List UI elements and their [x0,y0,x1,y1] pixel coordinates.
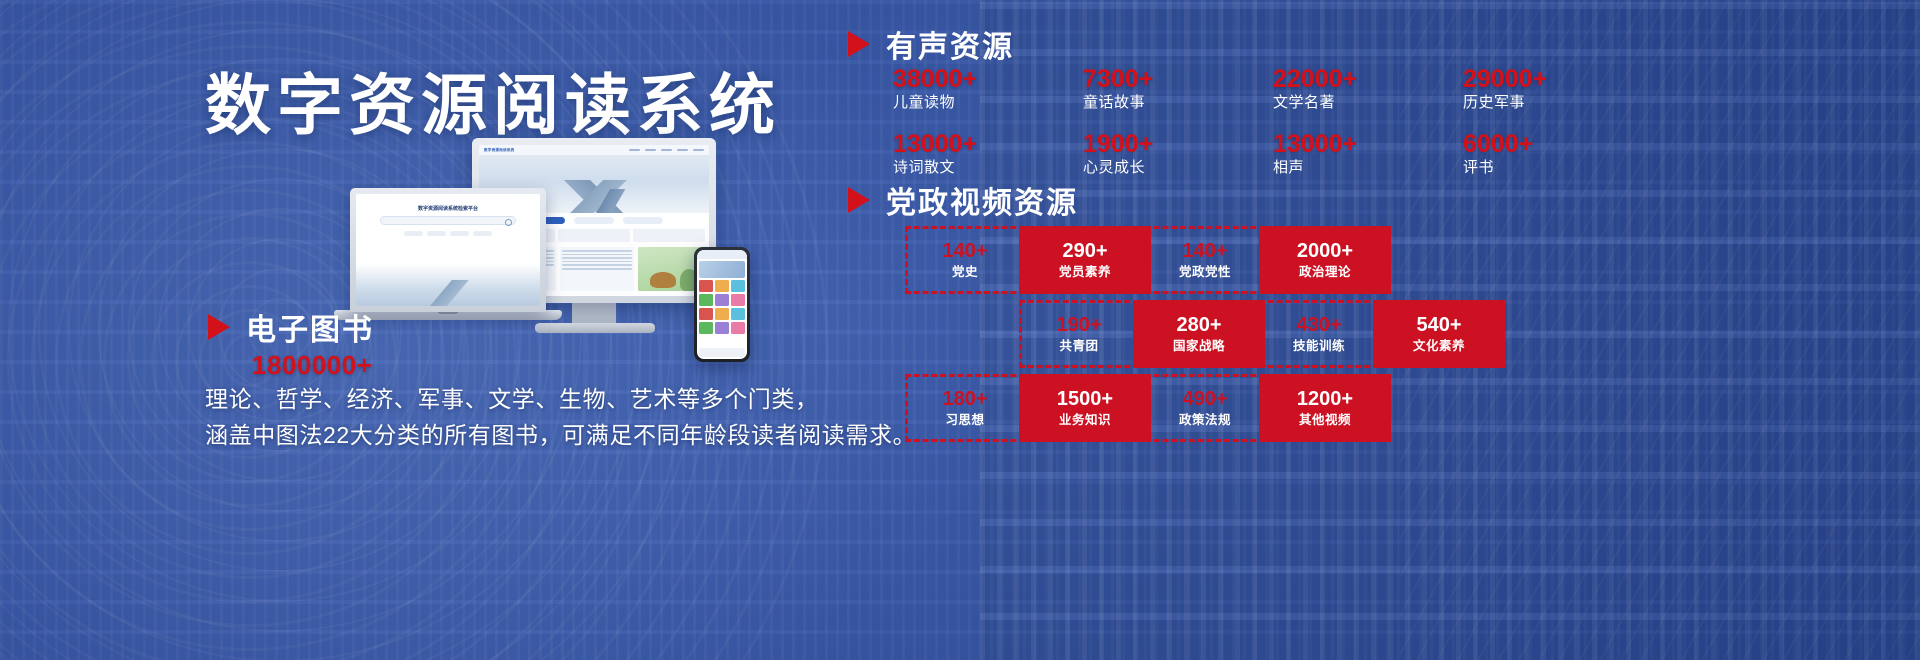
video-stats-grid: 140+党史290+党员素养140+党政党性2000+政治理论190+共青团28… [905,226,1515,442]
audio-stat-count: 6000+ [1463,131,1653,157]
ebook-heading: 电子图书 [246,305,374,349]
video-stat-count: 280+ [1176,314,1221,337]
laptop: 数字资源阅读系统检索平台 [350,188,546,312]
video-stat-count: 190+ [1056,314,1101,337]
audio-stats-grid: 38000+儿童读物7300+童话故事22000+文学名著29000+历史军事1… [893,66,1653,179]
website-nav [629,149,704,152]
video-stat-count: 140+ [942,240,987,263]
audio-stat-item: 38000+儿童读物 [893,66,1083,114]
monitor-stand-base [535,323,655,333]
website-logo: 数字资源阅读系统 [484,148,514,153]
audio-stat-item: 1900+心灵成长 [1083,131,1273,179]
video-stat-label: 党员素养 [1059,263,1111,281]
audio-stat-label: 儿童读物 [893,92,1083,114]
video-stat-cell: 180+习思想 [905,374,1025,442]
audio-stat-item: 7300+童话故事 [1083,66,1273,114]
video-stat-cell: 1200+其他视频 [1259,374,1391,442]
laptop-screen: 数字资源阅读系统检索平台 [356,194,540,306]
phone-app-grid [697,280,747,334]
video-stat-label: 习思想 [945,411,984,429]
ebook-description-line1: 理论、哲学、经济、军事、文学、生物、艺术等多个门类， [205,381,916,417]
audio-stat-count: 13000+ [893,131,1083,157]
laptop-site-title: 数字资源阅读系统检索平台 [356,194,540,216]
audio-heading: 有声资源 [886,22,1014,66]
video-stat-count: 490+ [1182,388,1227,411]
audio-stat-label: 历史军事 [1463,92,1653,114]
hero-mountain-front [543,189,681,213]
video-stat-count: 1500+ [1057,388,1113,411]
play-triangle-icon [848,187,870,213]
ebook-section-header: 电子图书 [208,305,374,349]
audio-stat-label: 相声 [1273,157,1463,179]
video-stat-cell: 140+党政党性 [1145,226,1265,294]
devices-illustration: 数字资源阅读系统 [350,130,810,380]
audio-stat-count: 1900+ [1083,131,1273,157]
video-stat-count: 430+ [1296,314,1341,337]
audio-stat-count: 13000+ [1273,131,1463,157]
audio-section-header: 有声资源 [848,22,1014,66]
audio-stat-count: 22000+ [1273,66,1463,92]
video-stat-label: 技能训练 [1293,337,1345,355]
video-stat-cell: 280+国家战略 [1133,300,1265,368]
video-stat-label: 业务知识 [1059,411,1111,429]
audio-stat-item: 13000+诗词散文 [893,131,1083,179]
video-section-header: 党政视频资源 [848,178,1078,222]
audio-stat-item: 29000+历史军事 [1463,66,1653,114]
play-triangle-icon [208,314,230,340]
audio-stat-label: 童话故事 [1083,92,1273,114]
audio-stat-label: 评书 [1463,157,1653,179]
video-stat-label: 国家战略 [1173,337,1225,355]
video-stat-label: 党史 [952,263,978,281]
video-stat-count: 180+ [942,388,987,411]
video-stat-cell: 140+党史 [905,226,1025,294]
banner-root: 数字资源阅读系统 数字资源阅读系统 [0,0,1920,660]
website-header: 数字资源阅读系统 [479,145,709,156]
laptop-ink-wash-art [356,264,540,306]
audio-stat-label: 诗词散文 [893,157,1083,179]
video-stat-cell: 1500+业务知识 [1019,374,1151,442]
video-stat-cell: 2000+政治理论 [1259,226,1391,294]
phone-screen [697,250,747,359]
video-stat-cell: 540+文化素养 [1373,300,1505,368]
laptop-search-box [380,216,516,225]
video-stat-count: 140+ [1182,240,1227,263]
video-stat-count: 540+ [1416,314,1461,337]
audio-stat-item: 6000+评书 [1463,131,1653,179]
video-stat-label: 共青团 [1059,337,1098,355]
video-stat-label: 其他视频 [1299,411,1351,429]
video-heading: 党政视频资源 [886,178,1078,222]
audio-stat-label: 心灵成长 [1083,157,1273,179]
video-stat-cell: 490+政策法规 [1145,374,1265,442]
video-stat-count: 2000+ [1297,240,1353,263]
video-stat-cell: 290+党员素养 [1019,226,1151,294]
audio-stat-label: 文学名著 [1273,92,1463,114]
phone-status-bar [697,250,747,259]
video-stat-label: 党政党性 [1179,263,1231,281]
phone-dock [699,348,745,357]
website-list-card [560,247,633,291]
video-stat-label: 政治理论 [1299,263,1351,281]
audio-stat-count: 38000+ [893,66,1083,92]
phone-banner [699,261,745,278]
audio-stat-count: 29000+ [1463,66,1653,92]
video-stat-cell: 430+技能训练 [1259,300,1379,368]
play-triangle-icon [848,31,870,57]
ebook-description: 理论、哲学、经济、军事、文学、生物、艺术等多个门类， 涵盖中图法22大分类的所有… [205,381,916,453]
smartphone [694,247,750,362]
audio-stat-item: 22000+文学名著 [1273,66,1463,114]
audio-stat-item: 13000+相声 [1273,131,1463,179]
video-stat-label: 文化素养 [1413,337,1465,355]
audio-stat-count: 7300+ [1083,66,1273,92]
ebook-count: 1800000+ [252,350,372,381]
video-stat-count: 290+ [1062,240,1107,263]
video-stat-cell: 190+共青团 [1019,300,1139,368]
video-stat-label: 政策法规 [1179,411,1231,429]
laptop-tag-row [356,231,540,236]
ebook-description-line2: 涵盖中图法22大分类的所有图书，可满足不同年龄段读者阅读需求。 [205,417,916,453]
video-stat-count: 1200+ [1297,388,1353,411]
monitor-stand-neck [572,303,616,325]
